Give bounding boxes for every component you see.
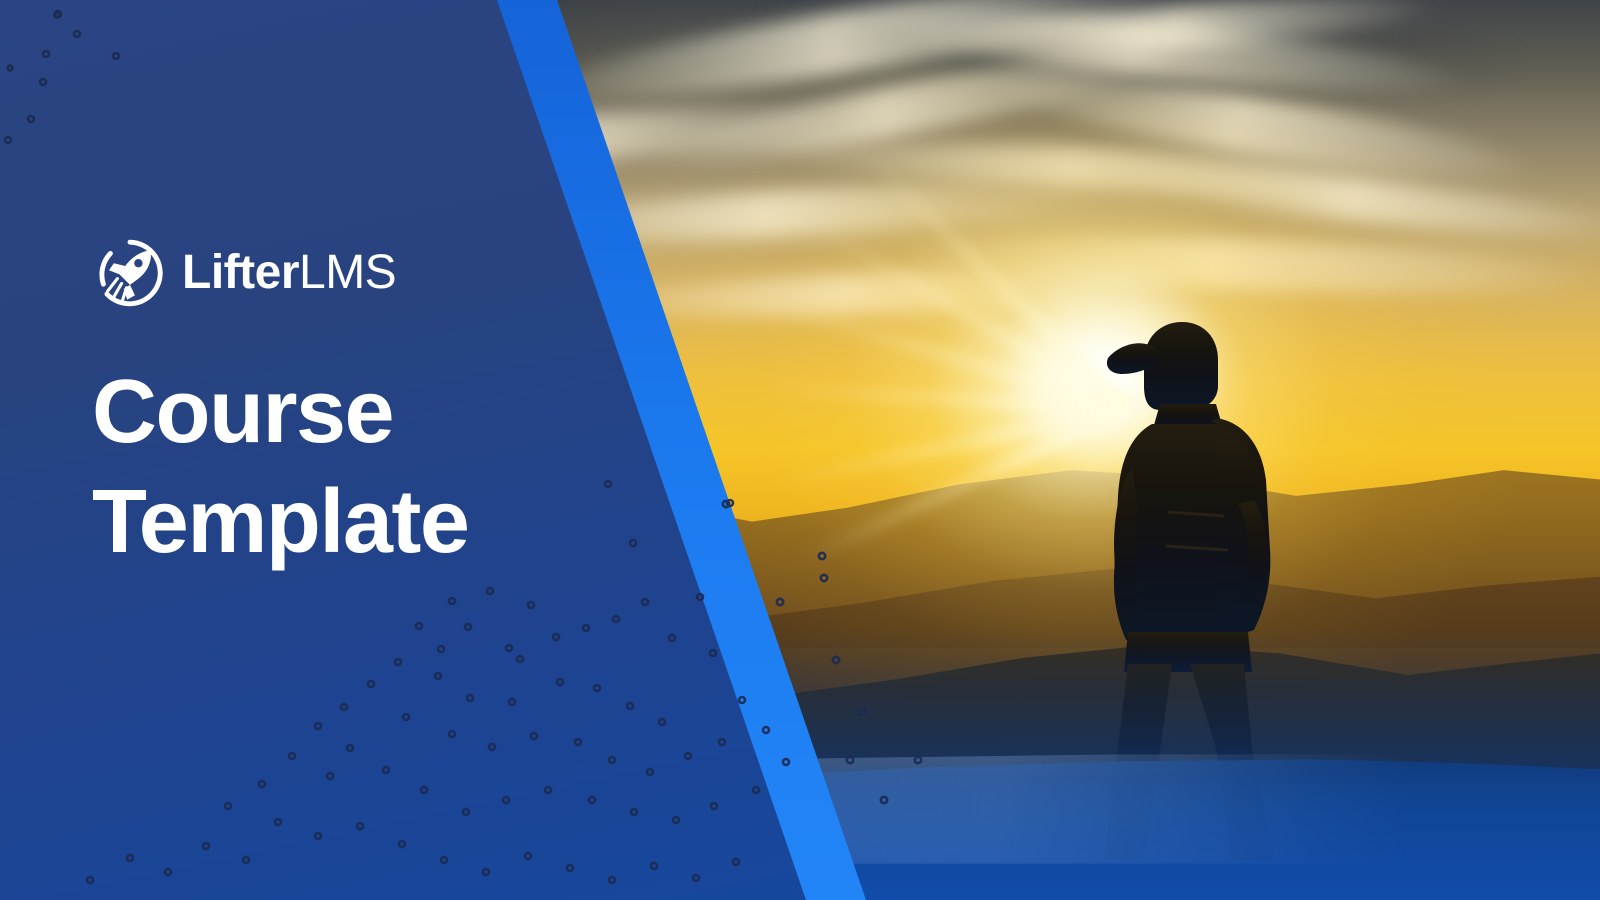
page-title: Course Template — [92, 358, 562, 578]
lifterlms-logo[interactable]: LifterLMS — [95, 238, 396, 308]
logo-word-lifter: Lifter — [182, 246, 299, 299]
rocket-in-circle-icon — [95, 238, 165, 308]
headline-line-2: Template — [92, 468, 562, 578]
logo-wordmark: LifterLMS — [182, 249, 396, 297]
course-template-banner: LifterLMS Course Template — [0, 0, 1600, 900]
banner-content: LifterLMS Course Template — [0, 0, 560, 900]
headline-line-1: Course — [92, 358, 562, 468]
logo-word-lms: LMS — [299, 246, 396, 299]
